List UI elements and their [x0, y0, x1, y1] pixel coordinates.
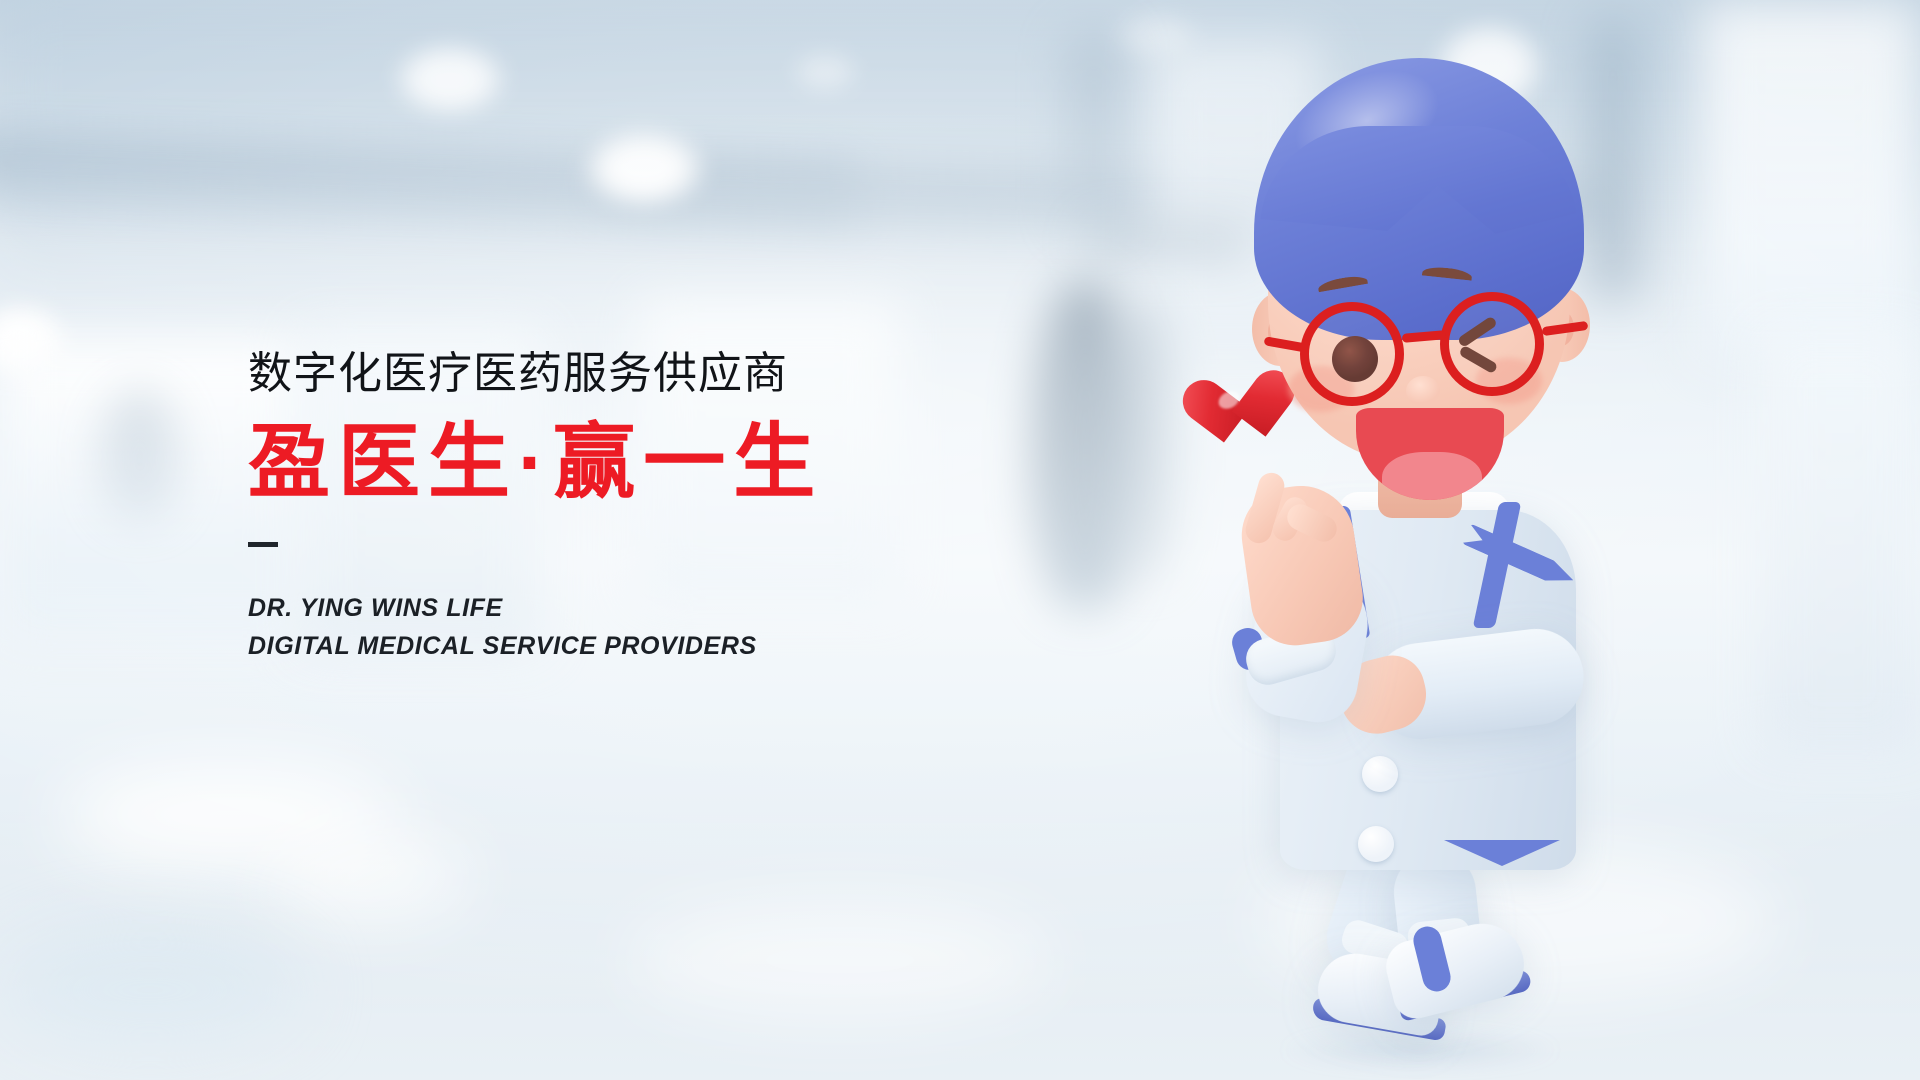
hero-subtitle: 数字化医疗医药服务供应商	[248, 352, 1008, 396]
hero-headline: 盈医生·赢一生	[248, 422, 1008, 504]
divider-rule	[248, 542, 278, 547]
tongue	[1382, 452, 1482, 500]
coat-button-top	[1362, 756, 1398, 792]
coat-button-bottom	[1358, 826, 1394, 862]
heart-icon	[1197, 373, 1282, 453]
doctor-mascot-illustration	[1160, 40, 1720, 1060]
glasses-lens-left	[1300, 302, 1404, 406]
glasses-lens-right	[1440, 292, 1544, 396]
english-tagline-line-2: DIGITAL MEDICAL SERVICE PROVIDERS	[248, 627, 1008, 665]
hero-copy-block: 数字化医疗医药服务供应商 盈医生·赢一生 DR. YING WINS LIFE …	[248, 352, 1008, 665]
banner-stage: 数字化医疗医药服务供应商 盈医生·赢一生 DR. YING WINS LIFE …	[0, 0, 1920, 1080]
english-tagline-block: DR. YING WINS LIFE DIGITAL MEDICAL SERVI…	[248, 589, 1008, 665]
english-tagline-line-1: DR. YING WINS LIFE	[248, 589, 1008, 627]
nose	[1406, 376, 1440, 406]
